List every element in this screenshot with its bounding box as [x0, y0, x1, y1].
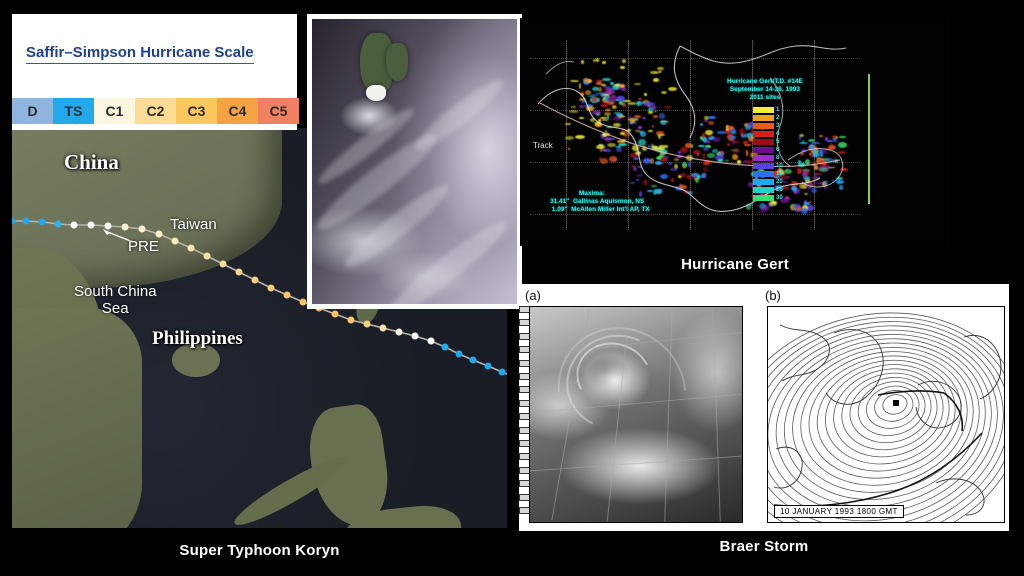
legend-value: 25: [776, 187, 783, 193]
braer-storm-figure: (a) (b): [519, 284, 1009, 531]
track-point: [364, 321, 371, 328]
caption-gert: Hurricane Gert: [520, 256, 950, 273]
legend-entry: 15: [753, 170, 783, 177]
gert-track-label: Track: [533, 141, 553, 150]
track-point: [456, 351, 463, 358]
track-point: [442, 344, 449, 351]
gert-green-scale-bar: [868, 74, 870, 204]
low-pressure-center: [893, 400, 899, 406]
braer-satellite-image: [529, 306, 743, 523]
legend-swatch: [753, 123, 774, 129]
track-point: [88, 222, 95, 229]
legend-value: 2: [776, 115, 779, 121]
legend-swatch: [753, 139, 774, 145]
legend-entry: 2: [753, 114, 783, 121]
satellite-island: [386, 43, 408, 81]
legend-value: 8: [776, 155, 779, 161]
track-point: [428, 338, 435, 345]
legend-value: 10: [776, 163, 783, 169]
chart-timestamp: 10 JANUARY 1993 1800 GMT: [774, 505, 904, 518]
track-point: [172, 238, 179, 245]
legend-entry: 5: [753, 138, 783, 145]
saffir-simpson-swatch-row: DTSC1C2C3C4C5: [12, 98, 299, 124]
legend-value: 5: [776, 139, 779, 145]
track-point: [348, 317, 355, 324]
track-point: [300, 299, 307, 306]
legend-entry: 6: [753, 146, 783, 153]
legend-value: 6: [776, 147, 779, 153]
panel-b-label: (b): [765, 288, 781, 303]
saffir-simpson-category-c4: C4: [217, 98, 258, 124]
track-point: [156, 231, 163, 238]
legend-value: 3: [776, 123, 779, 129]
legend-entry: 3: [753, 122, 783, 129]
saffir-simpson-category-c1: C1: [94, 98, 135, 124]
track-point: [188, 245, 195, 252]
legend-swatch: [753, 195, 774, 201]
track-point: [139, 226, 146, 233]
track-point: [499, 369, 506, 376]
legend-swatch: [753, 179, 774, 185]
pre-label: PRE: [128, 238, 159, 255]
legend-swatch: [753, 155, 774, 161]
braer-surface-analysis-chart: 10 JANUARY 1993 1800 GMT: [767, 306, 1005, 523]
track-point: [220, 261, 227, 268]
track-point: [332, 311, 339, 318]
legend-swatch: [753, 187, 774, 193]
saffir-simpson-category-c3: C3: [176, 98, 217, 124]
legend-swatch: [753, 147, 774, 153]
legend-entry: 8: [753, 154, 783, 161]
caption-koryn: Super Typhoon Koryn: [12, 542, 507, 559]
satellite-island: [366, 85, 386, 101]
isobar: [786, 334, 981, 502]
braer-panel-a: (a): [519, 284, 756, 531]
saffir-simpson-category-ts: TS: [53, 98, 94, 124]
hurricane-gert-map: Track Hurricane Gert/T.D. #14E September…: [520, 18, 950, 246]
saffir-simpson-legend: Saffir–Simpson Hurricane Scale DTSC1C2C3…: [12, 14, 297, 130]
legend-entry: 10: [753, 162, 783, 169]
legend-value: 15: [776, 171, 783, 177]
legend-entry: 1: [753, 106, 783, 113]
gert-maxima-annotation: Maxima: 31.41" Gallinas Aquismon, NS 1.0…: [550, 190, 650, 214]
track-point: [236, 269, 243, 276]
legend-swatch: [753, 163, 774, 169]
legend-swatch: [753, 107, 774, 113]
legend-entry: 30: [753, 194, 783, 201]
caption-braer: Braer Storm: [519, 538, 1009, 555]
track-point: [71, 222, 78, 229]
braer-panel-b: (b): [759, 284, 1009, 531]
track-point: [39, 219, 46, 226]
saffir-simpson-category-d: D: [12, 98, 53, 124]
legend-value: 4: [776, 131, 779, 137]
track-point: [252, 277, 259, 284]
figure-canvas: PRE China Taiwan South China Sea Philipp…: [0, 0, 1024, 576]
legend-swatch: [753, 171, 774, 177]
legend-value: 30: [776, 195, 783, 201]
track-point: [23, 218, 30, 225]
track-point: [380, 325, 387, 332]
track-point: [470, 357, 477, 364]
legend-value: 20: [776, 179, 783, 185]
legend-entry: 25: [753, 186, 783, 193]
track-point: [396, 329, 403, 336]
frontal-boundaries: [774, 391, 982, 506]
track-point: [204, 253, 211, 260]
panel-a-label: (a): [525, 288, 541, 303]
saffir-simpson-category-c2: C2: [135, 98, 176, 124]
saffir-simpson-category-c5: C5: [258, 98, 299, 124]
legend-swatch: [753, 115, 774, 121]
isobar-field: [768, 307, 1004, 522]
track-point: [55, 221, 62, 228]
legend-value: 1: [776, 107, 779, 113]
legend-entry: 20: [753, 178, 783, 185]
legend-entry: 4: [753, 130, 783, 137]
koryn-satellite-inset: [307, 14, 522, 309]
gert-annotation: Hurricane Gert/T.D. #14E September 14-26…: [727, 78, 803, 102]
gert-rainfall-legend: 12345681015202530: [753, 106, 783, 202]
legend-swatch: [753, 131, 774, 137]
track-point: [412, 333, 419, 340]
track-point: [284, 292, 291, 299]
track-point: [268, 285, 275, 292]
saffir-simpson-title: Saffir–Simpson Hurricane Scale: [26, 44, 254, 64]
isobar: [815, 352, 960, 477]
track-point: [485, 363, 492, 370]
